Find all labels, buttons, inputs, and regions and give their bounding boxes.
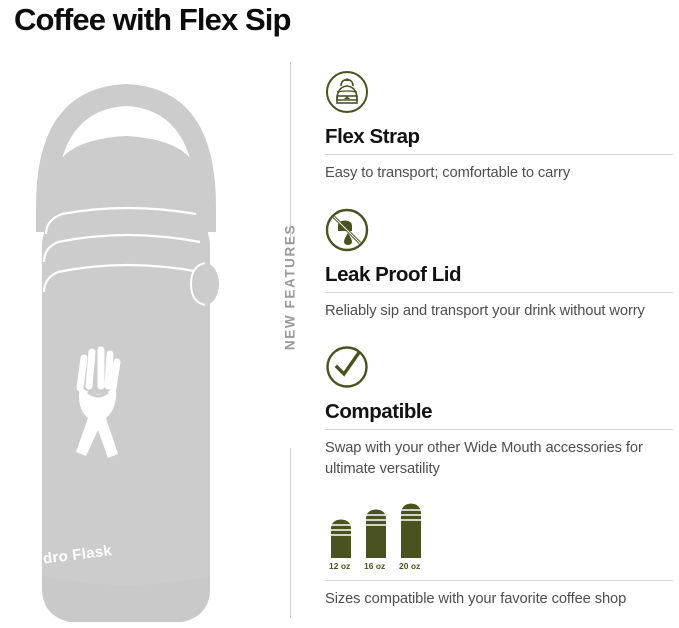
feature-description: Easy to transport; comfortable to carry <box>325 163 673 184</box>
feature-flex-strap: Flex Strap Easy to transport; comfortabl… <box>325 70 673 184</box>
size-label-12oz: 12 oz <box>329 561 350 571</box>
size-label-16oz: 16 oz <box>364 561 385 571</box>
feature-description: Swap with your other Wide Mouth accessor… <box>325 438 673 479</box>
size-bottle-12oz: 12 oz <box>329 520 351 572</box>
feature-compatible: Compatible Swap with your other Wide Mou… <box>325 345 673 479</box>
new-features-label: NEW FEATURES <box>271 215 311 360</box>
size-label-20oz: 20 oz <box>399 561 420 571</box>
rail-divider-bottom <box>290 448 291 618</box>
sizes-description: Sizes compatible with your favorite coff… <box>325 589 673 610</box>
sizes-block: 12 oz 16 oz 20 oz Sizes compatible with … <box>325 501 673 610</box>
feature-divider <box>325 292 673 293</box>
size-bottle-20oz: 20 oz <box>399 504 421 572</box>
size-bottle-16oz: 16 oz <box>364 510 386 572</box>
feature-title: Flex Strap <box>325 124 673 149</box>
page-title: Coffee with Flex Sip <box>14 0 291 40</box>
bottle-size-comparison-icon: 12 oz 16 oz 20 oz <box>325 501 445 573</box>
flex-strap-lid-icon <box>325 70 369 114</box>
checkmark-circle-icon <box>325 345 369 389</box>
no-leak-droplet-icon <box>325 208 369 252</box>
feature-divider <box>325 154 673 155</box>
features-list: Flex Strap Easy to transport; comfortabl… <box>325 70 673 610</box>
bottle-cap-dome <box>52 136 200 206</box>
feature-title: Leak Proof Lid <box>325 262 673 287</box>
product-image: Hydro Flask <box>0 56 250 628</box>
feature-description: Reliably sip and transport your drink wi… <box>325 301 673 322</box>
feature-title: Compatible <box>325 399 673 424</box>
feature-leak-proof-lid: Leak Proof Lid Reliably sip and transpor… <box>325 208 673 322</box>
bottle-illustration: Hydro Flask <box>0 56 250 628</box>
sizes-divider <box>325 580 673 581</box>
feature-divider <box>325 429 673 430</box>
new-features-rail: NEW FEATURES <box>271 62 311 618</box>
